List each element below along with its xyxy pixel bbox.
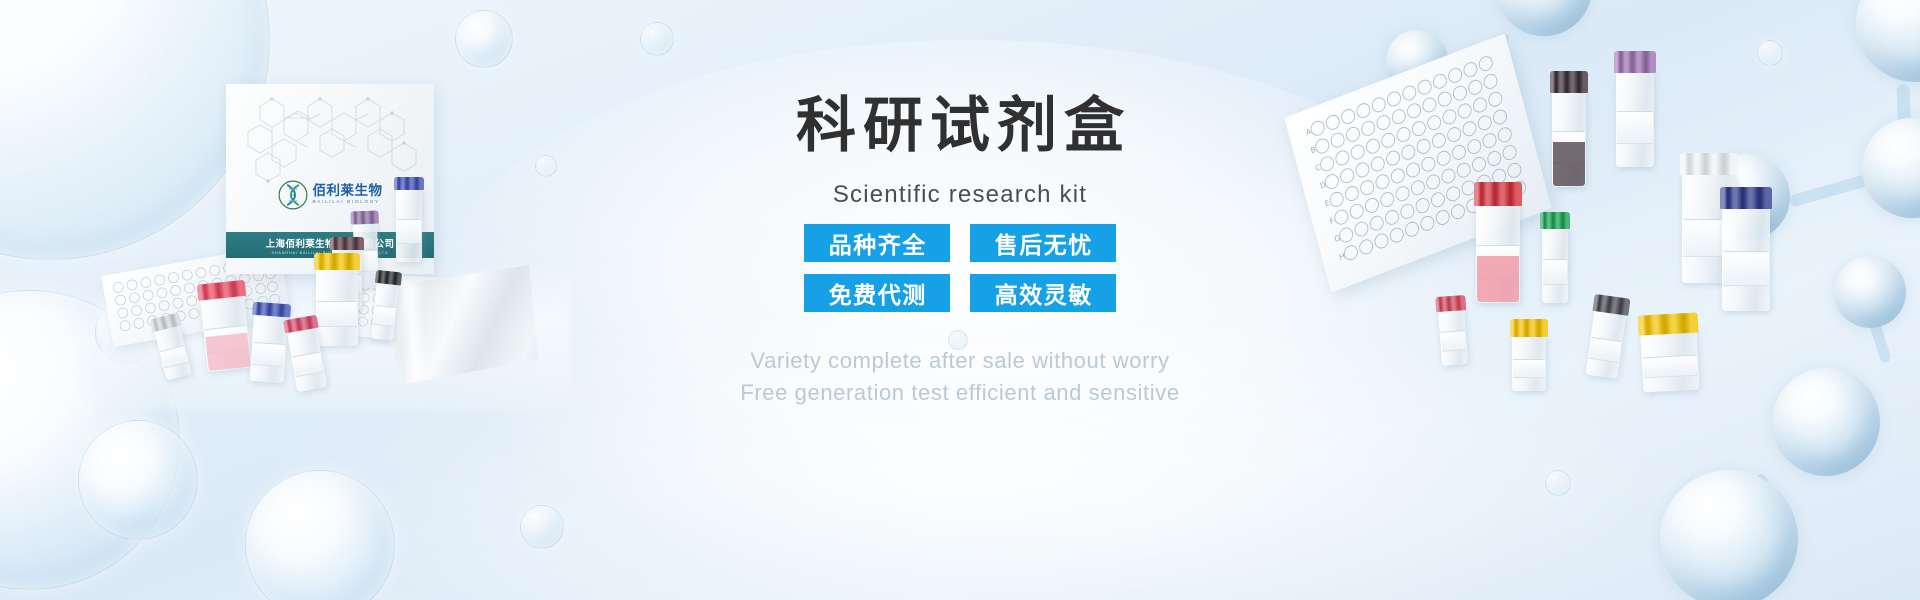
vial-cap (1592, 294, 1630, 316)
vial-cap (1510, 319, 1548, 337)
reagent-vial (316, 268, 358, 346)
molecule-sphere-icon (1856, 0, 1920, 82)
water-bubble-icon (640, 22, 674, 56)
svg-text:F: F (1329, 216, 1335, 226)
reagent-vial (1722, 207, 1770, 311)
vial-cap (252, 302, 291, 318)
vial-cap (350, 211, 378, 225)
reagent-vial (1542, 227, 1568, 303)
water-bubble-icon (520, 505, 564, 549)
vial-label (1543, 259, 1567, 285)
vial-cap (1614, 51, 1656, 73)
molecule-sphere-icon (1660, 470, 1798, 600)
svg-text:G: G (1333, 233, 1341, 244)
water-bubble-icon (78, 420, 198, 540)
vial-cap (1638, 312, 1699, 335)
vial-cap (197, 280, 246, 301)
water-bubble-icon (455, 10, 513, 68)
vial-cap (330, 237, 364, 250)
vial-label (373, 305, 395, 327)
feature-badge-group: 品种齐全 售后无忧 免费代测 高效灵敏 (804, 224, 1116, 312)
vial-cap (1435, 295, 1466, 312)
water-bubble-icon (1545, 470, 1571, 496)
vial-cap (1540, 212, 1570, 229)
headline-group: 科研试剂盒 Scientific research kit (0, 96, 1920, 209)
page-title: 科研试剂盒 (0, 96, 1920, 156)
vial-contents (1477, 256, 1519, 302)
vial-label (317, 301, 357, 328)
tagline-group: Variety complete after sale without worr… (0, 345, 1920, 409)
page-subtitle: Scientific research kit (0, 181, 1920, 209)
feature-badge-aftersale[interactable]: 售后无忧 (970, 224, 1116, 262)
svg-text:H: H (1338, 251, 1346, 262)
tagline-line-2: Free generation test efficient and sensi… (0, 377, 1920, 409)
vial-cap (1550, 71, 1588, 93)
tagline-line-1: Variety complete after sale without worr… (0, 345, 1920, 377)
water-bubble-icon (245, 470, 395, 600)
vial-label (1723, 251, 1769, 286)
feature-badge-freetest[interactable]: 免费代测 (804, 274, 950, 312)
molecule-sphere-icon (1496, 0, 1592, 36)
promo-banner: 佰利莱生物 BAILILAI BIOLOGY 上海佰利莱生物科技有限公司 SHA… (0, 0, 1920, 600)
vial-cap (314, 253, 360, 270)
molecule-sphere-icon (1834, 256, 1906, 328)
feature-badge-variety[interactable]: 品种齐全 (804, 224, 950, 262)
reagent-vial (1476, 203, 1520, 303)
feature-badge-sensitive[interactable]: 高效灵敏 (970, 274, 1116, 312)
vial-cap (375, 270, 402, 286)
vial-label (397, 219, 421, 244)
